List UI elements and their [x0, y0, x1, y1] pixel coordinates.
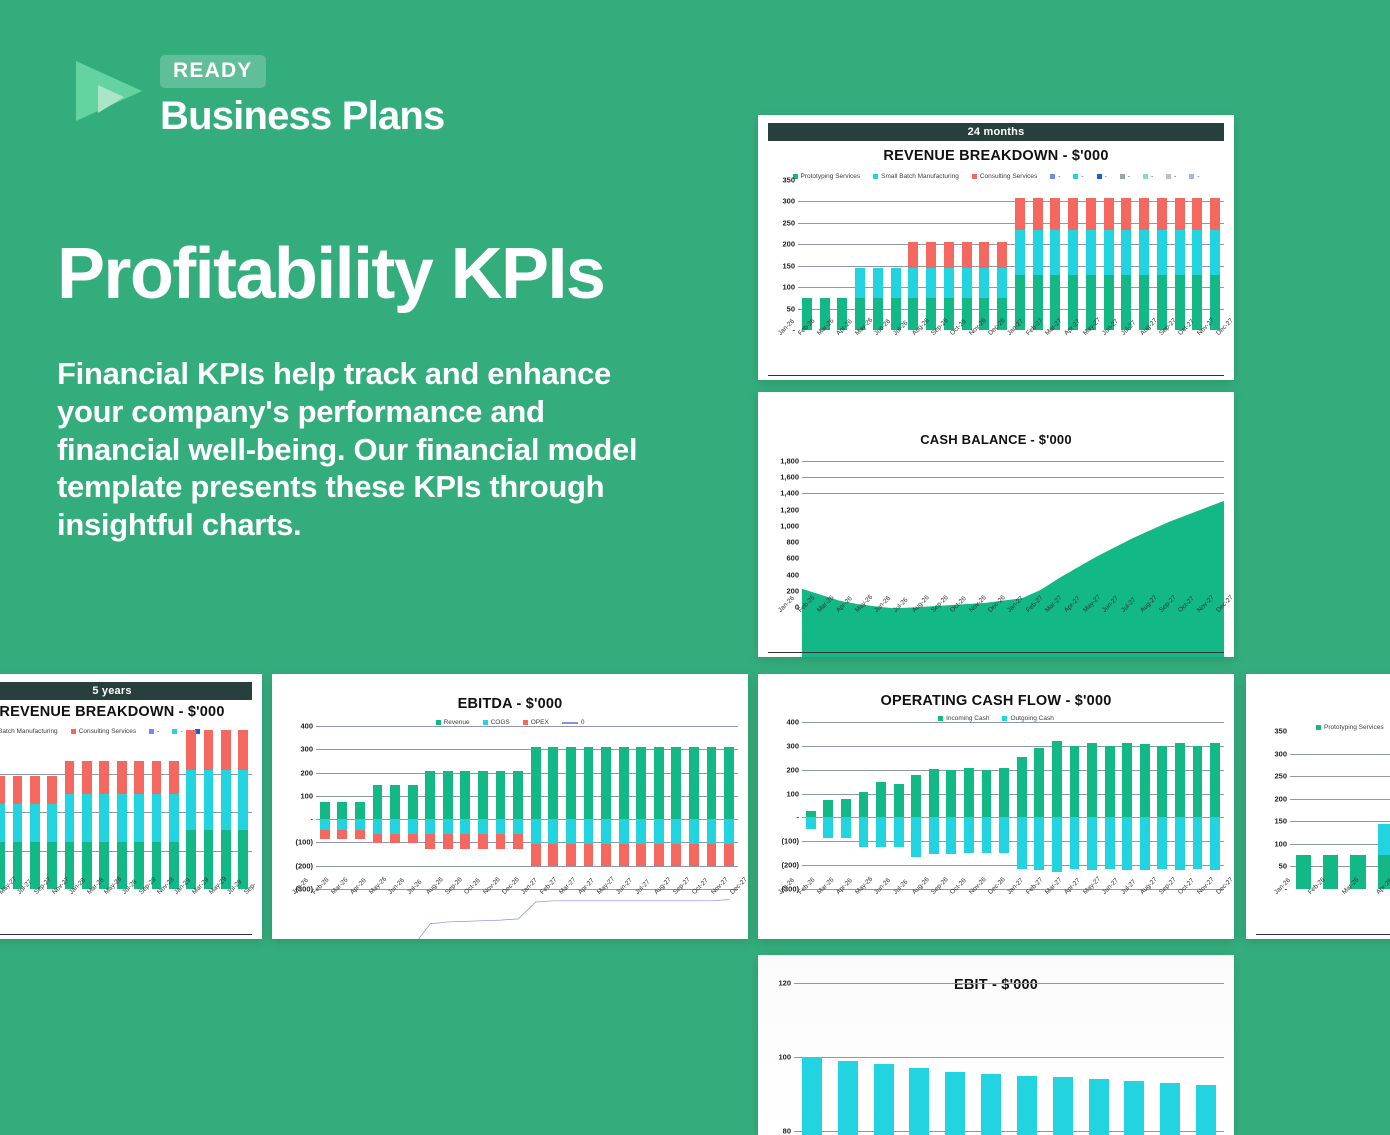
bar-segment — [926, 242, 936, 268]
bar-group[interactable] — [1081, 983, 1117, 1131]
bar-group[interactable] — [650, 726, 668, 889]
bar-segment — [1210, 198, 1220, 230]
bar-segment — [997, 242, 1007, 268]
y-axis-tick: 400 — [300, 722, 313, 731]
bar-segment — [946, 817, 956, 853]
y-axis-tick: 300 — [300, 745, 313, 754]
bar-segment — [531, 819, 541, 843]
chart-title: REVENUE BREAKDOWN - $'000 — [0, 704, 252, 720]
bar-segment — [584, 747, 594, 819]
bar-group[interactable] — [925, 722, 943, 889]
bar-group[interactable] — [334, 726, 352, 889]
bar-segment — [513, 771, 523, 819]
bar-segment — [859, 817, 869, 846]
legend-item[interactable]: Prototyping Services — [793, 173, 861, 180]
bar-segment — [390, 834, 400, 844]
bar-group[interactable] — [960, 722, 978, 889]
legend-item[interactable]: - — [1166, 173, 1176, 180]
bar-group[interactable] — [439, 726, 457, 889]
bar-group[interactable] — [668, 726, 686, 889]
bar-group[interactable] — [1171, 180, 1189, 330]
bar-group[interactable] — [1066, 722, 1084, 889]
legend-label: Consulting Services — [79, 728, 136, 735]
bar-segment — [186, 770, 196, 831]
y-axis-tick: 200 — [782, 240, 795, 249]
bar-segment — [1086, 230, 1096, 275]
bar-group[interactable] — [1064, 180, 1082, 330]
bar-segment — [221, 770, 231, 831]
legend-swatch — [1166, 174, 1171, 179]
bar-segment — [238, 730, 248, 770]
bar-group[interactable] — [597, 726, 615, 889]
bar-group[interactable] — [937, 983, 973, 1131]
bar-segment — [1053, 1077, 1073, 1135]
bar-group[interactable] — [200, 735, 217, 889]
bar-segment — [999, 768, 1009, 817]
bar-group[interactable] — [351, 726, 369, 889]
gridline — [802, 477, 1224, 478]
x-axis: Jan-26Feb-26Mar-26Apr-26May-26Jun-26Jul-… — [768, 330, 1224, 376]
bar-segment — [531, 844, 541, 866]
bar-segment — [425, 771, 435, 819]
bar-group[interactable] — [421, 726, 439, 889]
y-axis-tick: (100) — [781, 837, 799, 846]
legend-swatch — [436, 720, 441, 725]
legend-item[interactable]: - — [1120, 173, 1130, 180]
x-axis: Jan-26Feb-26Mar-26Apr-26May-26Jun-26Jul-… — [282, 889, 738, 935]
bar-segment — [30, 776, 40, 804]
bar-segment — [1160, 1083, 1180, 1135]
bar-group[interactable] — [165, 735, 182, 889]
bar-segment — [823, 817, 833, 837]
x-axis: Jan-26Feb-26Mar-26Apr-26May- — [1256, 889, 1390, 935]
bar-group[interactable] — [1048, 722, 1066, 889]
bar-group[interactable] — [1171, 722, 1189, 889]
bar-group[interactable] — [995, 722, 1013, 889]
bar-group[interactable] — [1031, 722, 1049, 889]
bar-group[interactable] — [235, 735, 252, 889]
bar-group[interactable] — [798, 180, 816, 330]
bar-group[interactable] — [802, 722, 820, 889]
bar-group[interactable] — [720, 726, 738, 889]
bar-group[interactable] — [905, 180, 923, 330]
y-axis-tick: 200 — [786, 765, 799, 774]
bar-group[interactable] — [890, 722, 908, 889]
bar-group[interactable] — [872, 722, 890, 889]
chart-legend: Prototyping ServicesSmall Batch Manufact… — [768, 173, 1224, 180]
legend-item[interactable]: - — [1050, 173, 1060, 180]
legend-label: - — [180, 728, 182, 735]
legend-item[interactable]: - — [172, 728, 182, 735]
bar-segment — [724, 747, 734, 819]
bar-segment — [855, 268, 865, 298]
legend-label: OPEX — [531, 719, 549, 726]
bar-group[interactable] — [907, 722, 925, 889]
gridline — [802, 461, 1224, 462]
bar-segment — [204, 770, 214, 831]
bar-segment — [221, 730, 231, 770]
legend-item[interactable]: - — [1073, 173, 1083, 180]
bar-series — [794, 983, 1224, 1131]
bar-group[interactable] — [1317, 731, 1344, 889]
bar-group[interactable] — [1101, 722, 1119, 889]
bar-segment — [548, 819, 558, 843]
bar-group[interactable] — [1153, 180, 1171, 330]
bar-group[interactable] — [457, 726, 475, 889]
bar-group[interactable] — [1116, 983, 1152, 1131]
bar-segment — [929, 817, 939, 853]
bar-group[interactable] — [1344, 731, 1371, 889]
legend-item[interactable]: Consulting Services — [71, 728, 136, 735]
y-axis-tick: 100 — [1274, 839, 1287, 848]
x-axis: Mar-27May-27Jul-27Sep-27Nov-27Jan-28Mar-… — [0, 889, 252, 935]
bar-segment — [152, 794, 162, 842]
period-label: 24 months — [768, 123, 1224, 141]
y-axis-tick: 1,800 — [780, 457, 799, 466]
bar-segment — [337, 819, 347, 829]
legend-item[interactable]: - — [1143, 173, 1153, 180]
chart-card-revenue-breakdown-clipped[interactable]: Prototyping Services -501001502002503003… — [1246, 674, 1390, 939]
bar-segment — [1034, 748, 1044, 817]
y-axis-tick: 100 — [786, 789, 799, 798]
bar-segment — [1140, 744, 1150, 817]
chart-card-operating-cash-flow[interactable]: OPERATING CASH FLOW - $'000 Incoming Cas… — [758, 674, 1234, 939]
legend-swatch — [523, 720, 528, 725]
bar-group[interactable] — [794, 983, 830, 1131]
x-axis: Jan-26Feb-26Mar-26Apr-26May-26Jun-26Jul-… — [768, 889, 1224, 935]
legend-item[interactable]: Consulting Services — [972, 173, 1037, 180]
bar-segment — [724, 844, 734, 866]
bar-group[interactable] — [993, 180, 1011, 330]
bar-group[interactable] — [44, 735, 61, 889]
bar-segment — [134, 761, 144, 794]
bar-group[interactable] — [1029, 180, 1047, 330]
bar-segment — [1017, 1076, 1037, 1135]
bar-group[interactable] — [404, 726, 422, 889]
chart-title: EBITDA - $'000 — [282, 696, 738, 712]
bar-segment — [873, 268, 883, 298]
bar-segment — [964, 768, 974, 817]
bar-group[interactable] — [545, 726, 563, 889]
bar-group[interactable] — [943, 722, 961, 889]
bar-segment — [894, 817, 904, 846]
y-axis: 02004006008001,0001,2001,4001,6001,800 — [768, 461, 802, 607]
page-description: Financial KPIs help track and enhance yo… — [57, 355, 657, 544]
bar-segment — [373, 834, 383, 844]
bar-segment — [908, 242, 918, 268]
bar-series — [316, 726, 738, 889]
bar-group[interactable] — [922, 180, 940, 330]
legend-item[interactable]: Small Batch Manufacturing — [0, 728, 58, 735]
bar-segment — [1378, 824, 1390, 856]
bar-segment — [1196, 1085, 1216, 1135]
play-triangle-icon — [72, 59, 146, 123]
chart-legend: Incoming CashOutgoing Cash — [768, 715, 1224, 722]
bar-segment — [1070, 746, 1080, 818]
bar-group[interactable] — [386, 726, 404, 889]
bar-group[interactable] — [1013, 722, 1031, 889]
bar-segment — [671, 819, 681, 843]
bar-segment — [1086, 198, 1096, 230]
y-axis-tick: 1,400 — [780, 489, 799, 498]
bar-segment — [601, 747, 611, 819]
y-axis-tick: 50 — [787, 304, 795, 313]
legend-item[interactable]: Small Batch Manufacturing — [873, 173, 959, 180]
bar-group[interactable] — [703, 726, 721, 889]
bar-segment — [841, 817, 851, 838]
bar-group[interactable] — [820, 722, 838, 889]
y-axis-tick: (200) — [295, 861, 313, 870]
plot-area: -50100150200250300350 — [768, 180, 1224, 330]
bar-segment — [548, 844, 558, 866]
bar-group[interactable] — [61, 735, 78, 889]
bar-group[interactable] — [580, 726, 598, 889]
bar-group[interactable] — [1154, 722, 1172, 889]
bar-group[interactable] — [527, 726, 545, 889]
bar-segment — [82, 794, 92, 842]
bar-segment — [425, 834, 435, 848]
bar-group[interactable] — [1136, 722, 1154, 889]
y-axis-tick: 1,200 — [780, 505, 799, 514]
legend-label: - — [157, 728, 159, 735]
bar-segment — [99, 761, 109, 794]
bar-group[interactable] — [1118, 180, 1136, 330]
bar-segment — [1323, 855, 1338, 889]
bar-segment — [478, 819, 488, 834]
bar-group[interactable] — [901, 983, 937, 1131]
bar-segment — [1087, 743, 1097, 817]
bar-group[interactable] — [866, 983, 902, 1131]
bar-group[interactable] — [1100, 180, 1118, 330]
bar-segment — [82, 761, 92, 794]
legend-item[interactable]: - — [149, 728, 159, 735]
bar-group[interactable] — [869, 180, 887, 330]
bar-segment — [671, 747, 681, 819]
legend-item[interactable]: Revenue — [436, 719, 470, 726]
bar-segment — [1139, 198, 1149, 230]
legend-swatch — [1143, 174, 1148, 179]
bar-group[interactable] — [1189, 722, 1207, 889]
bar-group[interactable] — [96, 735, 113, 889]
bar-group[interactable] — [369, 726, 387, 889]
page-title: Profitability KPIs — [57, 238, 604, 310]
chart-card-cash-balance[interactable]: CASH BALANCE - $'000 02004006008001,0001… — [758, 392, 1234, 657]
legend-label: - — [1128, 173, 1130, 180]
bar-group[interactable] — [509, 726, 527, 889]
bar-group[interactable] — [834, 180, 852, 330]
bar-segment — [1210, 817, 1220, 870]
bar-group[interactable] — [183, 735, 200, 889]
bar-segment — [337, 802, 347, 819]
chart-title: CASH BALANCE - $'000 — [768, 432, 1224, 447]
bar-group[interactable] — [78, 735, 95, 889]
plot-area: (300)(200)(100)-100200300400 — [768, 722, 1224, 889]
chart-card-ebitda[interactable]: EBITDA - $'000 RevenueCOGSOPEX0 (300)(20… — [272, 674, 748, 939]
bar-group[interactable] — [217, 735, 234, 889]
bar-segment — [823, 800, 833, 817]
bar-segment — [1157, 817, 1167, 869]
bar-segment — [0, 776, 5, 804]
bar-segment — [689, 747, 699, 819]
bar-segment — [390, 785, 400, 819]
bar-segment — [584, 844, 594, 866]
bar-group[interactable] — [113, 735, 130, 889]
y-axis-tick: 200 — [1274, 794, 1287, 803]
bar-segment — [689, 819, 699, 843]
bar-group[interactable] — [958, 180, 976, 330]
bar-segment — [1050, 230, 1060, 275]
chart-card-revenue-breakdown-5y[interactable]: 5 years REVENUE BREAKDOWN - $'000 Small … — [0, 674, 262, 939]
legend-label: Prototyping Services — [801, 173, 861, 180]
legend-swatch — [172, 729, 177, 734]
bar-segment — [1157, 746, 1167, 818]
chart-card-revenue-breakdown-24m[interactable]: 24 months REVENUE BREAKDOWN - $'000 Prot… — [758, 115, 1234, 380]
bar-group[interactable] — [130, 735, 147, 889]
bar-group[interactable] — [562, 726, 580, 889]
bar-group[interactable] — [148, 735, 165, 889]
bar-segment — [601, 844, 611, 866]
bar-segment — [566, 747, 576, 819]
bar-segment — [117, 761, 127, 794]
legend-item[interactable]: Prototyping Services — [1316, 724, 1384, 731]
bar-group[interactable] — [816, 180, 834, 330]
bar-segment — [1210, 743, 1220, 817]
bar-group[interactable] — [973, 983, 1009, 1131]
bar-segment — [30, 804, 40, 843]
bar-segment — [1175, 817, 1185, 870]
y-axis-tick: 80 — [783, 1127, 791, 1135]
y-axis-tick: 350 — [782, 176, 795, 185]
bar-group[interactable] — [1152, 983, 1188, 1131]
bar-group[interactable] — [1290, 731, 1317, 889]
bar-segment — [1210, 230, 1220, 275]
bar-group[interactable] — [1188, 983, 1224, 1131]
y-axis-tick: 200 — [300, 768, 313, 777]
legend-item[interactable]: 0 — [562, 719, 585, 726]
bar-group[interactable] — [1045, 983, 1081, 1131]
chart-legend: RevenueCOGSOPEX0 — [282, 719, 738, 726]
bar-group[interactable] — [1206, 722, 1224, 889]
bar-segment — [1105, 817, 1115, 869]
bar-group[interactable] — [1135, 180, 1153, 330]
legend-item[interactable]: - — [1097, 173, 1107, 180]
bar-group[interactable] — [855, 722, 873, 889]
legend-item[interactable]: Incoming Cash — [938, 715, 989, 722]
bar-group[interactable] — [26, 735, 43, 889]
bar-group[interactable] — [615, 726, 633, 889]
bar-group[interactable] — [685, 726, 703, 889]
bar-group[interactable] — [1372, 731, 1390, 889]
bar-segment — [1175, 198, 1185, 230]
legend-swatch — [1002, 716, 1007, 721]
bar-group[interactable] — [1011, 180, 1029, 330]
bar-group[interactable] — [316, 726, 334, 889]
legend-item[interactable]: - — [1189, 173, 1199, 180]
y-axis-tick: 100 — [300, 791, 313, 800]
bar-group[interactable] — [976, 180, 994, 330]
bar-group[interactable] — [887, 180, 905, 330]
bar-group[interactable] — [492, 726, 510, 889]
legend-item[interactable]: Outgoing Cash — [1002, 715, 1053, 722]
legend-item[interactable] — [195, 729, 203, 734]
bar-group[interactable] — [851, 180, 869, 330]
legend-swatch — [483, 720, 488, 725]
bar-segment — [944, 242, 954, 268]
bar-group[interactable] — [632, 726, 650, 889]
chart-title: OPERATING CASH FLOW - $'000 — [768, 693, 1224, 709]
bar-group[interactable] — [1118, 722, 1136, 889]
bar-segment — [707, 844, 717, 866]
y-axis-tick: 250 — [1274, 772, 1287, 781]
y-axis-tick: (100) — [295, 838, 313, 847]
bar-group[interactable] — [1083, 722, 1101, 889]
legend-item[interactable]: COGS — [483, 719, 510, 726]
bar-group[interactable] — [474, 726, 492, 889]
bar-group[interactable] — [837, 722, 855, 889]
y-axis: 80100120 — [768, 983, 794, 1131]
bar-segment — [478, 834, 488, 848]
chart-card-ebit[interactable]: EBIT - $'000 80100120 — [758, 955, 1234, 1135]
bar-segment — [1033, 230, 1043, 275]
bar-segment — [169, 761, 179, 794]
y-axis-tick: 50 — [1279, 862, 1287, 871]
bar-segment — [478, 771, 488, 819]
bar-segment — [1122, 817, 1132, 869]
bar-group[interactable] — [0, 735, 9, 889]
bar-group[interactable] — [978, 722, 996, 889]
y-axis-tick: 300 — [782, 197, 795, 206]
legend-swatch — [71, 729, 76, 734]
bar-segment — [619, 819, 629, 843]
bar-segment — [496, 819, 506, 834]
bar-segment — [460, 834, 470, 848]
bar-series — [0, 735, 252, 889]
legend-label: - — [1105, 173, 1107, 180]
bar-group[interactable] — [1206, 180, 1224, 330]
bar-group[interactable] — [940, 180, 958, 330]
y-axis-tick: 100 — [782, 283, 795, 292]
y-axis-tick: - — [797, 813, 800, 822]
legend-label: - — [1151, 173, 1153, 180]
bar-group[interactable] — [1047, 180, 1065, 330]
bar-segment — [654, 819, 664, 843]
y-axis-tick: 300 — [1274, 749, 1287, 758]
bar-segment — [408, 785, 418, 819]
y-axis-tick: 600 — [786, 554, 799, 563]
bar-group[interactable] — [9, 735, 26, 889]
legend-item[interactable]: OPEX — [523, 719, 549, 726]
bar-group[interactable] — [1189, 180, 1207, 330]
bar-group[interactable] — [1082, 180, 1100, 330]
legend-swatch — [1189, 174, 1194, 179]
bar-segment — [496, 834, 506, 848]
bar-group[interactable] — [830, 983, 866, 1131]
bar-segment — [1087, 817, 1097, 870]
bar-group[interactable] — [1009, 983, 1045, 1131]
bar-segment — [13, 804, 23, 843]
legend-label: Revenue — [444, 719, 470, 726]
bar-segment — [841, 799, 851, 818]
legend-label: Outgoing Cash — [1010, 715, 1053, 722]
bar-segment — [979, 268, 989, 298]
bar-segment — [964, 817, 974, 853]
bar-series — [802, 722, 1224, 889]
bar-segment — [1017, 817, 1027, 869]
bar-segment — [874, 1064, 894, 1135]
bar-segment — [1105, 746, 1115, 818]
plot-area: -50100150200250300350 — [1256, 731, 1390, 889]
bar-segment — [979, 242, 989, 268]
